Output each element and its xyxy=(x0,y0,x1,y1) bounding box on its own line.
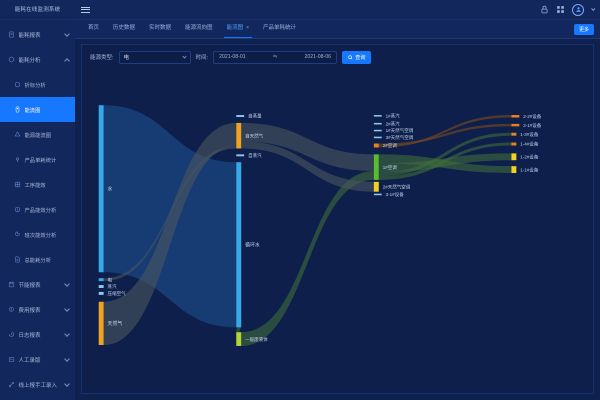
chevron-down-icon xyxy=(64,381,70,387)
sankey-node[interactable] xyxy=(236,332,241,346)
main-area: 首页历史数据实时数据能源流向图能流图×产品单耗统计更多 能源类型: 电 时间: … xyxy=(75,0,600,400)
sankey-node[interactable] xyxy=(374,123,382,125)
sankey-chart[interactable]: 水电蒸汽压缩空气天然气自蒸量自天然气自蒸汽循环水一般废液体1#蒸汽2#蒸汽1#天… xyxy=(82,69,593,393)
tab-label: 能源流向图 xyxy=(185,25,213,31)
filter-bar: 能源类型: 电 时间: 2021-08-01 ⇆ 2021-08-06 xyxy=(82,45,593,69)
sankey-node-label: 2#天然气空调 xyxy=(383,183,411,190)
chevron-down-icon xyxy=(64,281,70,287)
sankey-node-label: 电 xyxy=(108,276,113,282)
log-icon xyxy=(7,331,15,339)
lock-icon[interactable] xyxy=(540,5,549,14)
sidebar-item-label: 费用报表 xyxy=(19,306,41,314)
sankey-node[interactable] xyxy=(511,166,516,173)
sidebar-item-label: 人工录版 xyxy=(19,356,41,364)
sankey-node-label: 2-1#设备 xyxy=(523,122,542,129)
sidebar-item-label: 产品单耗统计 xyxy=(25,156,57,164)
sankey-svg: 水电蒸汽压缩空气天然气自蒸量自天然气自蒸汽循环水一般废液体1#蒸汽2#蒸汽1#天… xyxy=(82,69,593,393)
sankey-node[interactable] xyxy=(511,115,519,117)
energy-flow-panel: 能源类型: 电 时间: 2021-08-01 ⇆ 2021-08-06 xyxy=(81,44,594,394)
sankey-node-label: 3-1#设备 xyxy=(386,191,405,198)
sankey-node[interactable] xyxy=(236,162,241,327)
sidebar-item-label: 日志报表 xyxy=(19,331,41,339)
sankey-node[interactable] xyxy=(374,115,382,117)
sankey-node-label: 一般废液体 xyxy=(245,336,268,343)
sankey-node-label: 1#蒸汽 xyxy=(386,112,401,119)
date-range-picker[interactable]: 2021-08-01 ⇆ 2021-08-06 xyxy=(213,51,337,64)
sankey-node-label: 压缩空气 xyxy=(108,290,127,297)
sankey-node[interactable] xyxy=(374,137,382,139)
tab-3[interactable]: 能源流向图 xyxy=(178,19,220,38)
sankey-node[interactable] xyxy=(99,285,104,288)
sankey-node[interactable] xyxy=(236,123,241,149)
sankey-node[interactable] xyxy=(374,182,379,192)
date-separator-icon: ⇆ xyxy=(273,54,277,60)
cost-icon xyxy=(7,306,15,314)
tab-label: 历史数据 xyxy=(113,25,135,31)
link-icon xyxy=(7,381,15,389)
sankey-node-label: 2#空调 xyxy=(383,142,398,149)
file-icon xyxy=(13,256,21,264)
sankey-node[interactable] xyxy=(511,133,516,136)
flow-icon xyxy=(13,106,21,114)
hamburger-icon[interactable] xyxy=(81,5,90,14)
sidebar-item-0[interactable]: 能耗报表 xyxy=(0,22,75,47)
sidebar-item-label: 节能报表 xyxy=(19,281,41,289)
analysis-icon xyxy=(7,56,15,64)
top-bar-actions xyxy=(540,4,594,16)
grid-icon xyxy=(13,181,21,189)
sankey-node-label: 1-4#设备 xyxy=(520,141,539,148)
report-icon xyxy=(7,31,15,39)
tab-label: 首页 xyxy=(88,25,99,31)
chevron-down-icon xyxy=(64,331,70,337)
tree-icon xyxy=(13,131,21,139)
sidebar-item-13[interactable]: 人工录版 xyxy=(0,347,75,372)
sidebar-item-label: 能耗分析 xyxy=(19,56,41,64)
manual-icon xyxy=(7,356,15,364)
sankey-node-label: 蒸汽 xyxy=(108,283,118,290)
sankey-node[interactable] xyxy=(236,115,244,117)
sidebar-item-6[interactable]: 工序能效 xyxy=(0,172,75,197)
sankey-node[interactable] xyxy=(374,194,382,196)
sankey-node[interactable] xyxy=(99,105,104,272)
sankey-node-label: 2-2#设备 xyxy=(523,113,542,120)
tab-more-button[interactable]: 更多 xyxy=(574,24,594,35)
sankey-node-label: 自天然气 xyxy=(245,132,264,139)
circle-icon xyxy=(13,81,21,89)
search-icon xyxy=(348,55,353,60)
sidebar-item-3[interactable]: 能流图 xyxy=(0,97,75,122)
sidebar-item-1[interactable]: 能耗分析 xyxy=(0,47,75,72)
sidebar-item-label: 线上报手工录入 xyxy=(19,381,58,389)
sidebar-item-4[interactable]: 能源能流图 xyxy=(0,122,75,147)
sankey-node-label: 1-3#设备 xyxy=(520,131,539,138)
date-end-value: 2021-08-06 xyxy=(305,54,332,60)
sankey-node-label: 1-2#设备 xyxy=(520,153,539,160)
energy-type-value: 电 xyxy=(124,53,130,61)
save-icon xyxy=(7,281,15,289)
sidebar-item-9[interactable]: 总能耗分析 xyxy=(0,247,75,272)
app-root: 能耗在线监测系统 能耗报表能耗分析折标分析能流图能源能流图产品单耗统计工序能效产… xyxy=(0,0,600,400)
sankey-node-label: 1#空调 xyxy=(383,164,398,171)
search-button[interactable]: 查询 xyxy=(342,51,371,64)
tab-label: 能流图 xyxy=(227,25,244,31)
sankey-node-label: 3#天然气空调 xyxy=(386,134,414,141)
sankey-node[interactable] xyxy=(374,154,379,180)
grid-icon[interactable] xyxy=(556,5,565,14)
sidebar-item-8[interactable]: 班次能效分析 xyxy=(0,222,75,247)
tab-5[interactable]: 产品单耗统计 xyxy=(256,19,303,38)
sidebar-item-label: 总能耗分析 xyxy=(25,256,52,264)
sankey-node[interactable] xyxy=(511,124,519,126)
top-bar xyxy=(75,0,600,20)
info-icon xyxy=(13,206,21,214)
chevron-down-icon xyxy=(64,356,70,362)
sankey-node[interactable] xyxy=(99,278,104,281)
sidebar-item-label: 能源能流图 xyxy=(25,131,52,139)
sidebar-item-10[interactable]: 节能报表 xyxy=(0,272,75,297)
tab-4[interactable]: 能流图× xyxy=(220,19,256,38)
sidebar-item-12[interactable]: 日志报表 xyxy=(0,322,75,347)
sidebar-item-14[interactable]: 线上报手工录入 xyxy=(0,372,75,397)
chevron-down-icon xyxy=(64,306,70,312)
sankey-node-label: 自蒸汽 xyxy=(248,152,262,159)
sankey-node-label: 水 xyxy=(108,185,113,192)
tab-more-label: 更多 xyxy=(579,26,589,33)
date-start-value: 2021-08-01 xyxy=(219,54,246,60)
sidebar-menu: 能耗报表能耗分析折标分析能流图能源能流图产品单耗统计工序能效产品能效分析班次能效… xyxy=(0,20,75,400)
chevron-down-icon xyxy=(64,31,70,37)
close-icon[interactable]: × xyxy=(246,25,249,31)
content-area: 能源类型: 电 时间: 2021-08-01 ⇆ 2021-08-06 xyxy=(75,39,600,400)
chevron-down-icon[interactable] xyxy=(591,7,595,11)
sankey-links xyxy=(104,105,512,346)
tab-1[interactable]: 历史数据 xyxy=(106,19,142,38)
date-range-label: 时间: xyxy=(196,53,209,61)
search-button-label: 查询 xyxy=(355,54,365,61)
sidebar-item-7[interactable]: 产品能效分析 xyxy=(0,197,75,222)
sidebar-item-2[interactable]: 折标分析 xyxy=(0,72,75,97)
sidebar-item-label: 产品能效分析 xyxy=(25,206,57,214)
sankey-node[interactable] xyxy=(99,302,104,345)
sidebar-item-label: 班次能效分析 xyxy=(25,231,57,239)
sankey-node-label: 天然气 xyxy=(108,320,123,327)
sankey-link[interactable] xyxy=(241,171,374,346)
sidebar-item-5[interactable]: 产品单耗统计 xyxy=(0,147,75,172)
sidebar-item-label: 工序能效 xyxy=(25,181,46,189)
sankey-node[interactable] xyxy=(374,144,379,148)
energy-type-label: 能源类型: xyxy=(90,53,114,61)
sankey-node-label: 自蒸量 xyxy=(248,113,262,120)
tab-label: 产品单耗统计 xyxy=(263,25,296,31)
sankey-node[interactable] xyxy=(236,154,244,156)
energy-type-select[interactable]: 电 xyxy=(119,51,191,64)
sidebar-item-label: 能流图 xyxy=(25,106,41,114)
sidebar: 能耗在线监测系统 能耗报表能耗分析折标分析能流图能源能流图产品单耗统计工序能效产… xyxy=(0,0,75,400)
chevron-down-icon xyxy=(182,54,186,58)
sidebar-item-11[interactable]: 费用报表 xyxy=(0,297,75,322)
user-avatar-icon[interactable] xyxy=(572,4,584,16)
sidebar-item-label: 折标分析 xyxy=(25,81,46,89)
tab-2[interactable]: 实时数据 xyxy=(142,19,178,38)
sankey-node[interactable] xyxy=(511,143,516,146)
sankey-node-label: 1-1#设备 xyxy=(520,166,539,173)
sankey-node-label: 2#蒸汽 xyxy=(386,120,401,127)
sidebar-item-label: 能耗报表 xyxy=(19,31,41,39)
sankey-node[interactable] xyxy=(511,153,516,160)
chevron-up-icon xyxy=(64,58,70,64)
sankey-node-label: 循环水 xyxy=(245,241,260,248)
tab-label: 实时数据 xyxy=(149,25,171,31)
tab-0[interactable]: 首页 xyxy=(81,19,106,38)
sankey-node[interactable] xyxy=(374,130,382,132)
tab-bar: 首页历史数据实时数据能源流向图能流图×产品单耗统计更多 xyxy=(75,20,600,39)
app-brand-title: 能耗在线监测系统 xyxy=(0,0,75,20)
shift-icon xyxy=(13,231,21,239)
sankey-node[interactable] xyxy=(99,292,104,295)
target-icon xyxy=(13,156,21,164)
sankey-node-label: 1#天然气空调 xyxy=(386,127,414,134)
